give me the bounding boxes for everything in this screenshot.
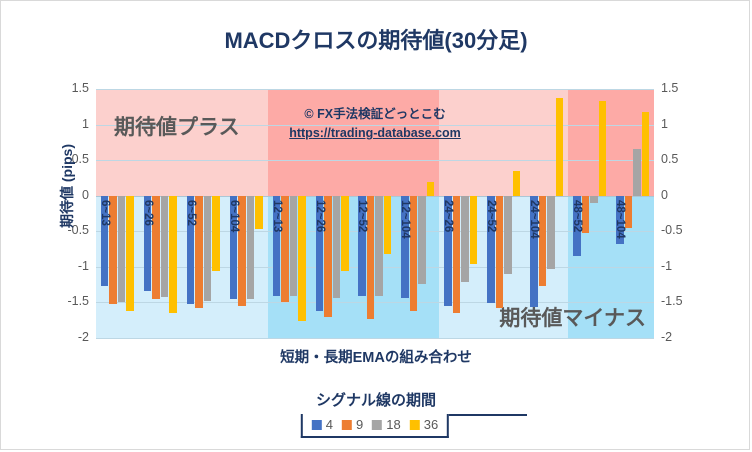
bar-48~104-signal-18 [633,149,641,196]
y-tick-left-1.5: 1.5 [31,81,89,95]
legend-label-9: 9 [356,417,363,432]
y-tick-right--2: -2 [661,330,719,344]
bar-24~104-signal-18 [547,196,555,269]
bar-group: 48~104 [611,89,654,338]
bar-24~52-signal-36 [513,171,521,196]
bar-12~52-signal-9 [367,196,375,319]
bar-48~104-signal-36 [642,112,650,195]
legend-item-18[interactable]: 18 [372,417,400,432]
bar-group: 6~26 [139,89,182,338]
bar-12~13-signal-36 [298,196,306,321]
chart-container: MACDクロスの期待値(30分足) 1.510.50-0.5-1-1.5-2 1… [0,0,750,450]
y-tick-right-1: 1 [661,117,719,131]
x-tick-label: 12~13 [271,200,283,232]
bar-group: 24~26 [439,89,482,338]
bar-6~26-signal-18 [161,196,169,298]
bar-group: 24~104 [525,89,568,338]
gridline--2 [96,338,654,339]
bar-24~26-signal-36 [470,196,478,264]
x-tick-label: 24~104 [528,200,540,239]
x-tick-label: 12~26 [314,200,326,232]
legend-swatch-18 [372,420,382,430]
y-axis-title: 期待値 (pips) [57,126,77,246]
bar-12~104-signal-36 [427,182,435,196]
bar-group: 48~52 [568,89,611,338]
chart-title: MACDクロスの期待値(30分足) [1,23,751,55]
y-tick-right--0.5: -0.5 [661,223,719,237]
bar-12~52-signal-36 [384,196,392,254]
bar-group: 24~52 [482,89,525,338]
legend-item-9[interactable]: 9 [342,417,363,432]
bar-6~104-signal-18 [247,196,255,299]
y-tick-right--1.5: -1.5 [661,294,719,308]
y-tick-right-1.5: 1.5 [661,81,719,95]
x-tick-label: 24~26 [442,200,454,232]
x-tick-label: 48~104 [614,200,626,239]
bar-24~104-signal-36 [556,98,564,195]
legend-title: シグナル線の期間 [1,389,751,410]
bar-group: 6~13 [96,89,139,338]
bar-12~26-signal-36 [341,196,349,271]
bar-48~52-signal-36 [599,101,607,196]
legend-label-18: 18 [386,417,400,432]
bar-6~26-signal-36 [169,196,177,313]
y-tick-right-0: 0 [661,188,719,202]
legend-label-4: 4 [326,417,333,432]
bar-group: 12~104 [396,89,439,338]
x-tick-label: 12~104 [399,200,411,239]
legend-item-36[interactable]: 36 [410,417,438,432]
bar-6~13-signal-36 [126,196,134,311]
bar-48~52-signal-18 [590,196,598,203]
bar-group: 6~52 [182,89,225,338]
y-axis-title-label: 期待値 (pips) [59,144,75,228]
bar-24~52-signal-18 [504,196,512,274]
bar-6~52-signal-36 [212,196,220,271]
x-tick-label: 12~52 [356,200,368,232]
bar-6~104-signal-36 [255,196,263,229]
bar-group: 6~104 [225,89,268,338]
x-axis-title: 短期・長期EMAの組み合わせ [1,346,751,367]
bar-group: 12~52 [354,89,397,338]
bar-12~52-signal-18 [375,196,383,296]
bar-12~13-signal-18 [290,196,298,296]
bar-group: 12~13 [268,89,311,338]
bar-12~104-signal-9 [410,196,418,311]
bar-24~26-signal-18 [461,196,469,283]
x-tick-label: 6~26 [142,200,154,226]
y-tick-right--1: -1 [661,259,719,273]
legend-swatch-36 [410,420,420,430]
legend-swatch-4 [312,420,322,430]
legend-item-4[interactable]: 4 [312,417,333,432]
y-tick-right-0.5: 0.5 [661,152,719,166]
bar-12~104-signal-18 [418,196,426,284]
y-tick-left--2: -2 [31,330,89,344]
legend: 491836 [301,414,449,438]
bar-6~52-signal-18 [204,196,212,301]
x-tick-label: 6~104 [228,200,240,232]
bar-6~13-signal-18 [118,196,126,303]
legend-swatch-9 [342,420,352,430]
legend-label-36: 36 [424,417,438,432]
bar-12~26-signal-18 [333,196,341,298]
x-tick-label: 6~52 [185,200,197,226]
bar-group: 12~26 [311,89,354,338]
x-tick-label: 48~52 [571,200,583,232]
x-tick-label: 24~52 [485,200,497,232]
y-tick-left--1.5: -1.5 [31,294,89,308]
plot-area: 期待値プラス 期待値マイナス © FX手法検証どっとこむ https://tra… [96,89,654,338]
x-tick-label: 6~13 [99,200,111,226]
y-tick-left--1: -1 [31,259,89,273]
